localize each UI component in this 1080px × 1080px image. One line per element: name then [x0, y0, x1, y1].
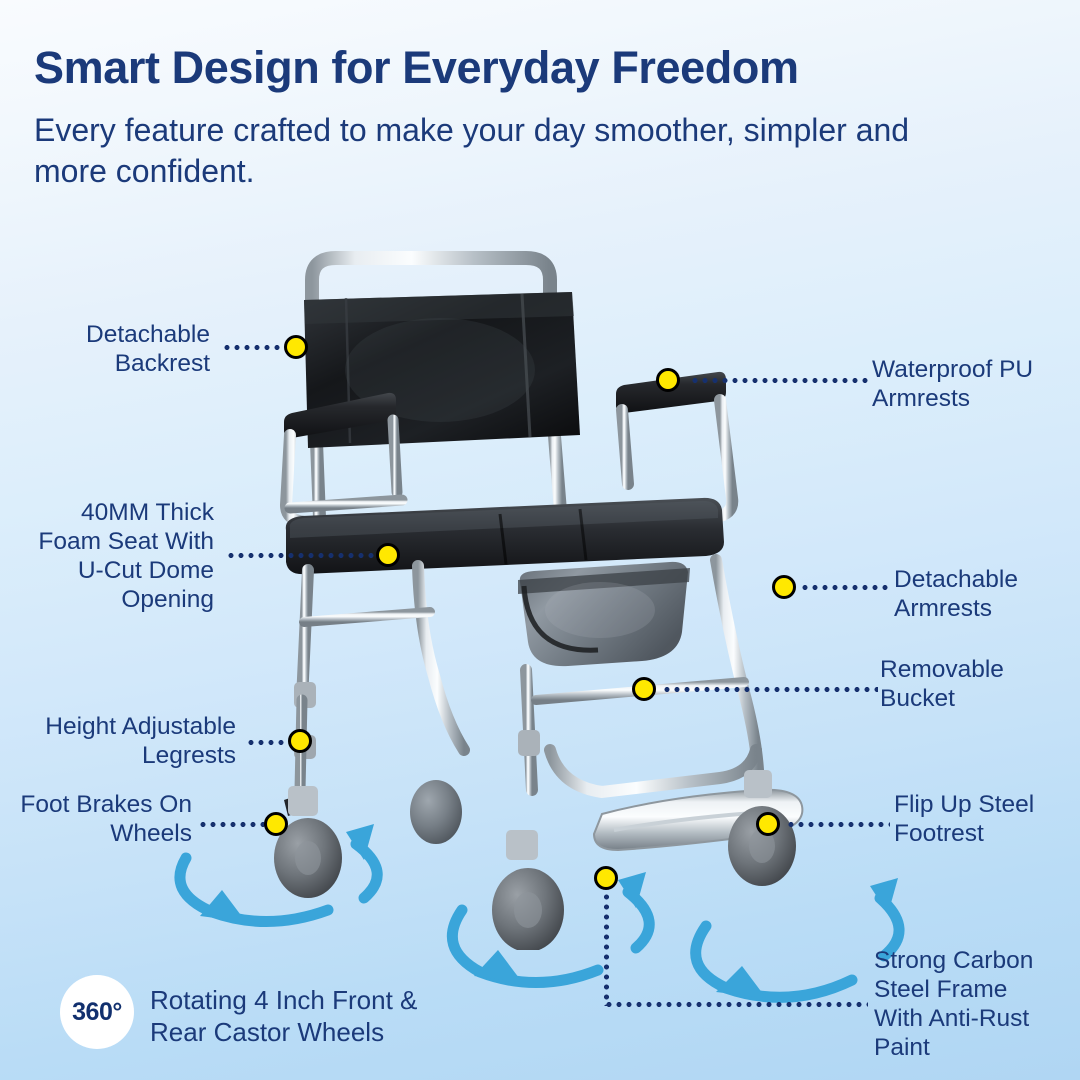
callout-flip-up-footrest-label: Flip Up Steel Footrest [894, 790, 1074, 848]
marker-detachable-armrests[interactable] [772, 575, 796, 599]
marker-foam-seat[interactable] [376, 543, 400, 567]
callout-line: Flip Up Steel Footrest [894, 790, 1074, 848]
marker-foot-brakes[interactable] [264, 812, 288, 836]
rotation-badge-value: 360° [72, 998, 122, 1027]
callout-height-legrests-label: Height Adjustable Legrests [12, 712, 236, 770]
rotation-badge: 360° [60, 975, 134, 1049]
callout-carbon-steel-frame-label: Strong Carbon Steel Frame With Anti-Rust… [874, 946, 1080, 1063]
leader-detachable-armrests [800, 585, 892, 590]
callout-line: Height Adjustable Legrests [12, 712, 236, 770]
marker-detachable-backrest[interactable] [284, 335, 308, 359]
callout-line: Detachable Armrests [894, 565, 1080, 623]
leader-waterproof-armrests [690, 378, 870, 383]
leader-carbon-steel-frame-vertical [604, 892, 609, 1006]
marker-flip-up-footrest[interactable] [756, 812, 780, 836]
commode-bucket [518, 562, 690, 666]
leader-height-legrests [246, 740, 290, 745]
marker-waterproof-armrests[interactable] [656, 368, 680, 392]
header-block: Smart Design for Everyday Freedom Every … [34, 44, 1044, 192]
marker-height-legrests[interactable] [288, 729, 312, 753]
callout-line: Strong Carbon Steel Frame With Anti-Rust… [874, 946, 1080, 1063]
leader-foot-brakes [198, 822, 266, 827]
callout-foam-seat-label: 40MM Thick Foam Seat With U-Cut Dome Ope… [18, 498, 214, 615]
callout-foot-brakes-label: Foot Brakes On Wheels [6, 790, 192, 848]
height-adjustable-legrest [294, 682, 540, 790]
infographic-canvas: Smart Design for Everyday Freedom Every … [0, 0, 1080, 1080]
marker-removable-bucket[interactable] [632, 677, 656, 701]
callout-waterproof-armrests-label: Waterproof PU Armrests [872, 355, 1072, 413]
callout-line: Detachable Backrest [30, 320, 210, 378]
rotation-badge-text: Rotating 4 Inch Front & Rear Castor Whee… [150, 985, 417, 1048]
callout-detachable-armrests-label: Detachable Armrests [894, 565, 1080, 623]
marker-carbon-steel-frame[interactable] [594, 866, 618, 890]
armrest-left [284, 393, 402, 522]
seat-cushion [286, 498, 724, 574]
leader-detachable-backrest [222, 345, 286, 350]
leader-removable-bucket [662, 687, 878, 692]
leader-foam-seat [226, 553, 378, 558]
page-subtitle: Every feature crafted to make your day s… [34, 110, 914, 192]
armrest-right [616, 372, 732, 516]
callout-removable-bucket-label: Removable Bucket [880, 655, 1060, 713]
leader-flip-up-footrest [786, 822, 890, 827]
callout-line: Foot Brakes On Wheels [6, 790, 192, 848]
callout-line: Waterproof PU Armrests [872, 355, 1072, 413]
callout-line: Removable Bucket [880, 655, 1060, 713]
callout-line: 40MM Thick Foam Seat With U-Cut Dome Ope… [18, 498, 214, 615]
leader-carbon-steel-frame-horizontal [604, 1002, 868, 1007]
page-title: Smart Design for Everyday Freedom [34, 44, 1044, 92]
callout-detachable-backrest-label: Detachable Backrest [30, 320, 210, 378]
